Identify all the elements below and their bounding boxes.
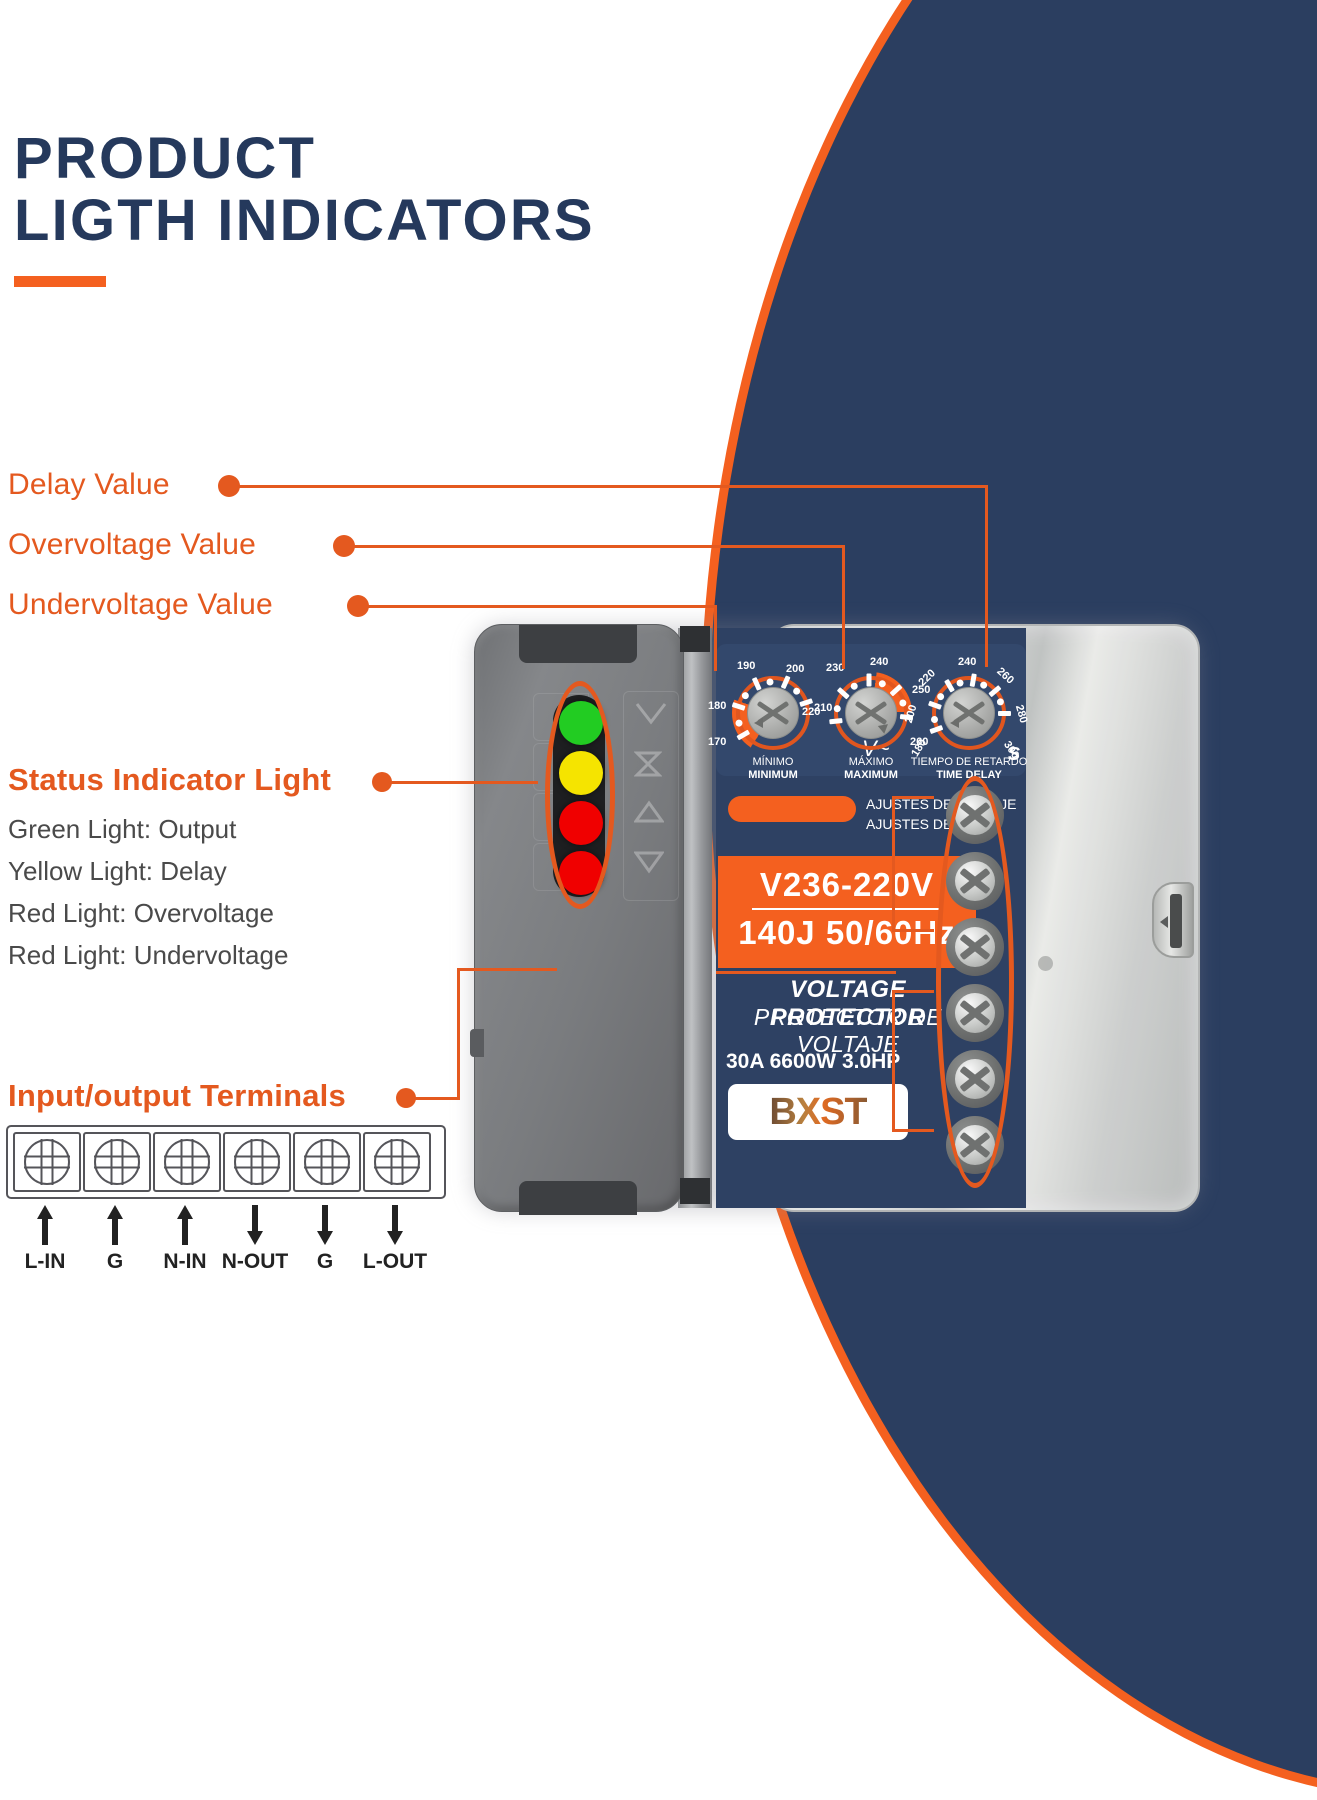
led-legend-red-under: Red Light: Undervoltage	[8, 934, 288, 976]
led-legend-red-over: Red Light: Overvoltage	[8, 892, 288, 934]
led-icon-column	[623, 691, 679, 901]
minimum-dial-caption-es: MÍNIMO	[753, 756, 794, 768]
callout-overvoltage-value: Overvoltage Value	[8, 528, 256, 562]
terminal-arrow-group: L-OUT	[361, 1203, 429, 1274]
minimum-dial-screw[interactable]	[747, 687, 799, 739]
page-title-line2: LIGTH INDICATORS	[14, 190, 595, 252]
status-indicator-panel	[533, 687, 681, 905]
dial-tick-label: 220	[802, 706, 820, 718]
dial-block: 170 180 190 200 210 MÍNIMO MINIMUM V~	[716, 644, 1026, 776]
terminal-label: N-OUT	[222, 1250, 289, 1274]
arrow-down-icon	[244, 1203, 266, 1247]
maximum-dial-caption-en: MAXIMUM	[844, 769, 898, 781]
out-bracket-bot	[892, 929, 934, 932]
page-title: PRODUCT LIGTH INDICATORS	[14, 128, 595, 287]
callout-status-indicator-light: Status Indicator Light	[8, 762, 331, 798]
terminal-cross-icon	[94, 1156, 140, 1169]
spec-divider	[752, 908, 942, 910]
leader-status-h	[388, 781, 538, 784]
dial-tick-label: 260	[994, 665, 1016, 686]
title-underline	[14, 276, 106, 287]
led-legend-yellow: Yellow Light: Delay	[8, 850, 288, 892]
leader-terminals-v	[457, 968, 460, 1099]
check-icon	[634, 700, 670, 730]
voltage-protector-device: 170 180 190 200 210 MÍNIMO MINIMUM V~	[468, 618, 1208, 1218]
in-bracket-bot	[892, 1129, 934, 1132]
brand-logo-box: BXST	[728, 1084, 908, 1140]
terminal-cross-icon	[304, 1156, 350, 1169]
terminal-cross-icon	[374, 1156, 420, 1169]
hinge-cap	[680, 1178, 710, 1204]
triangle-down-icon	[634, 850, 670, 880]
dial-tick-label: 240	[870, 656, 888, 668]
terminal-cross-icon	[164, 1156, 210, 1169]
terminal-cell	[13, 1132, 81, 1192]
led-legend: Green Light: Output Yellow Light: Delay …	[8, 808, 288, 976]
terminal-label: L-IN	[25, 1250, 66, 1274]
dial-tick	[998, 711, 1011, 716]
terminal-cell	[153, 1132, 221, 1192]
dial-tick-dot	[931, 716, 938, 723]
arrow-up-icon	[174, 1203, 196, 1247]
terminals-diagram: L-IN G N-IN N-OUT G L-OUT	[6, 1125, 446, 1274]
leader-undervoltage-v	[714, 605, 717, 671]
cover-latch[interactable]	[1152, 882, 1194, 958]
minimum-dial[interactable]: 170 180 190 200 210 MÍNIMO MINIMUM	[736, 676, 810, 750]
led-highlight-ellipse	[545, 681, 615, 909]
cover-nub	[1038, 956, 1053, 971]
page-title-line1: PRODUCT	[14, 128, 595, 190]
device-rating: 30A 6600W 3.0HP	[726, 1050, 900, 1074]
dial-tick-dot	[767, 679, 774, 686]
latch-arrow-icon	[1160, 916, 1168, 928]
screw-terminal-column	[940, 786, 1010, 1180]
dial-tick-label: 180	[708, 700, 726, 712]
brand-logo-text: BXST	[769, 1091, 866, 1134]
terminal-arrow-group: N-OUT	[221, 1203, 289, 1274]
body-side-tab	[470, 1029, 484, 1057]
led-legend-green: Green Light: Output	[8, 808, 288, 850]
time-delay-dial-screw[interactable]	[943, 687, 995, 739]
callout-input-output-terminals: Input/output Terminals	[8, 1078, 346, 1114]
time-delay-unit: S	[1008, 744, 1020, 765]
leader-undervoltage-h	[365, 605, 717, 608]
arrow-down-icon	[314, 1203, 336, 1247]
out-bracket-stem	[892, 796, 895, 932]
screw-highlight-ellipse	[936, 776, 1014, 1188]
latch-slot-icon	[1170, 894, 1182, 948]
terminal-arrow-group: L-IN	[11, 1203, 79, 1274]
terminal-label: G	[317, 1250, 333, 1274]
terminal-divider-line	[716, 971, 896, 974]
terminal-cell	[223, 1132, 291, 1192]
minimum-dial-caption-en: MINIMUM	[748, 769, 798, 781]
hinge-cap	[680, 626, 710, 652]
dial-pointer-icon	[950, 718, 959, 728]
arrow-up-icon	[34, 1203, 56, 1247]
terminal-cross-icon	[24, 1156, 70, 1169]
terminal-strip	[6, 1125, 446, 1199]
arrow-down-icon	[384, 1203, 406, 1247]
dial-tick-label: 170	[708, 736, 726, 748]
maximum-dial-screw[interactable]	[845, 687, 897, 739]
out-bracket-top	[892, 796, 934, 799]
dial-tick-label: 200	[786, 663, 804, 675]
terminal-label: N-IN	[163, 1250, 206, 1274]
in-bracket-top	[892, 990, 934, 993]
leader-terminals-h2	[457, 968, 557, 971]
terminal-cross-icon	[234, 1156, 280, 1169]
leader-overvoltage-v	[842, 545, 845, 669]
leader-delay-h	[236, 485, 988, 488]
terminal-label: L-OUT	[363, 1250, 427, 1274]
dial-pointer-icon	[754, 718, 763, 728]
terminal-arrow-group: N-IN	[151, 1203, 219, 1274]
dial-tick-label: 190	[737, 660, 755, 672]
terminal-arrow-row: L-IN G N-IN N-OUT G L-OUT	[6, 1203, 446, 1274]
leader-overvoltage-h	[351, 545, 845, 548]
time-delay-dial[interactable]: 180 200 220 240 260 280 300 TIEMPO DE RE…	[932, 676, 1006, 750]
dial-tick-label: 240	[958, 656, 976, 668]
device-body-left	[474, 624, 684, 1212]
in-bracket-stem	[892, 990, 895, 1132]
terminal-cell	[293, 1132, 361, 1192]
hourglass-icon	[634, 750, 670, 780]
callout-delay-value: Delay Value	[8, 468, 170, 502]
terminal-label: G	[107, 1250, 123, 1274]
terminal-arrow-group: G	[291, 1203, 359, 1274]
maximum-dial[interactable]: 220 230 240 250 260 MÁXIMO MAXIMUM	[834, 676, 908, 750]
body-dark-accent	[519, 1181, 637, 1215]
adjust-pill	[728, 796, 856, 822]
dial-tick	[867, 674, 872, 687]
arrow-up-icon	[104, 1203, 126, 1247]
leader-terminals-h	[412, 1097, 460, 1100]
terminal-arrow-group: G	[81, 1203, 149, 1274]
callout-undervoltage-value: Undervoltage Value	[8, 588, 273, 622]
maximum-dial-caption-es: MÁXIMO	[849, 756, 894, 768]
triangle-up-icon	[634, 800, 670, 830]
terminal-cell	[363, 1132, 431, 1192]
terminal-cell	[83, 1132, 151, 1192]
spec-model: V236-220V	[718, 856, 976, 904]
body-dark-accent	[519, 625, 637, 663]
leader-delay-v	[985, 485, 988, 667]
